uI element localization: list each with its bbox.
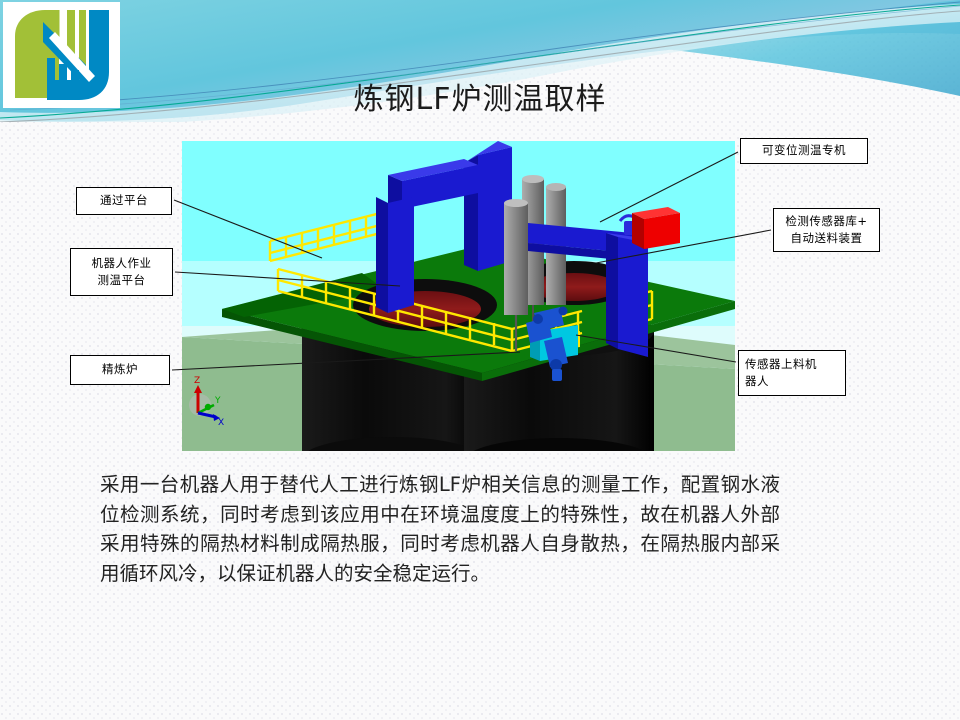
slide-body-text: 采用一台机器人用于替代人工进行炼钢LF炉相关信息的测量工作，配置钢水液位检测系统… [100, 470, 780, 589]
svg-text:X: X [218, 418, 224, 428]
logo-fin-1 [47, 58, 55, 100]
lf-furnace-3d-render: Z Y X [182, 141, 735, 451]
logo-gap-1 [60, 10, 64, 50]
sensor-magazine-box [632, 207, 680, 249]
logo-fin-3 [71, 70, 79, 100]
logo-fin-2 [59, 64, 67, 100]
callout-through-platform[interactable]: 通过平台 [76, 187, 172, 215]
callout-refining-furnace[interactable]: 精炼炉 [70, 355, 170, 385]
callout-sensor-library-feeder[interactable]: 检测传感器库+自动送料装置 [773, 208, 880, 252]
page-title: 炼钢LF炉测温取样 [180, 74, 780, 118]
company-logo [3, 2, 120, 108]
callout-sensor-loading-robot[interactable]: 传感器上料机器人 [738, 350, 846, 396]
callout-robot-measuring-platform[interactable]: 机器人作业测温平台 [70, 248, 173, 296]
svg-text:Z: Z [194, 376, 200, 386]
logo-gap-3 [86, 10, 89, 70]
callout-movable-temperature-machine[interactable]: 可变位测温专机 [740, 138, 868, 164]
svg-text:Y: Y [214, 396, 221, 406]
logo-gap-2 [75, 10, 79, 62]
slide-canvas: 炼钢LF炉测温取样 [0, 0, 960, 720]
